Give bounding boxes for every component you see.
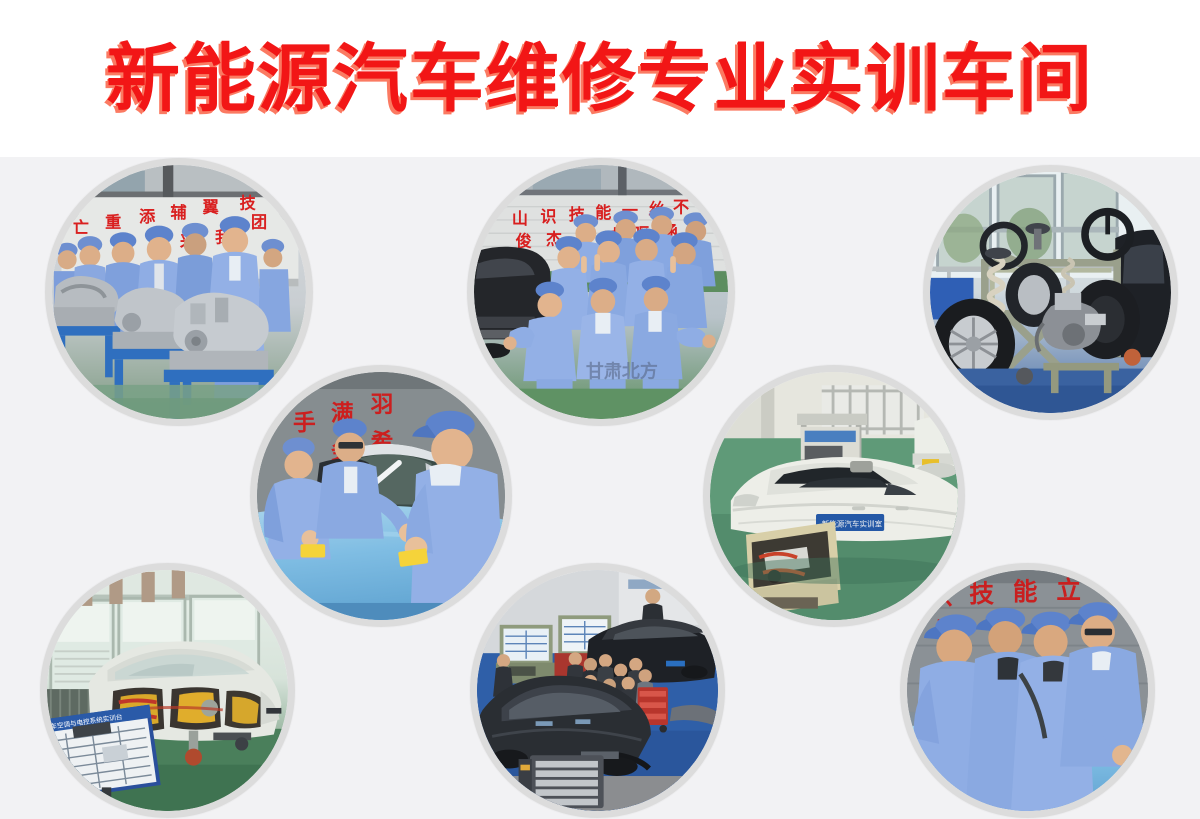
poster-header: 新能源汽车维修专业实训车间 xyxy=(0,0,1200,157)
photo-circle-chassis-suspension-rig[interactable]: 底盘悬架转向实训台架 xyxy=(923,165,1178,420)
photo-board: #ec2eab #ee5a50 #00c5ec #ee6a60 #8a8a8a xyxy=(0,157,1200,819)
photo-circle-electric-vehicle-cutaway[interactable]: 新能源汽车实训室 xyxy=(703,365,965,627)
svg-text:亡: 亡 xyxy=(73,218,89,237)
svg-text:羽: 羽 xyxy=(371,392,394,418)
svg-text:翼: 翼 xyxy=(203,197,219,216)
svg-text:能: 能 xyxy=(595,203,611,222)
svg-text:手: 手 xyxy=(293,411,316,437)
poster-page: 新能源汽车维修专业实训车间 #ec2eab #ee5a50 #00c5ec #e… xyxy=(0,0,1200,819)
photo-image: 新能源汽车实训室 xyxy=(710,372,958,620)
svg-text:技: 技 xyxy=(240,194,257,213)
photo-image: 以技能 立 以 xyxy=(907,570,1148,811)
svg-text:苟: 苟 xyxy=(697,195,714,214)
svg-text:技: 技 xyxy=(969,579,994,608)
svg-text:甘肃北方: 甘肃北方 xyxy=(586,360,658,382)
svg-text:辅: 辅 xyxy=(170,203,186,222)
photo-image: 山识技 能一丝 不苟 俊杰贤 才呕涵 血 xyxy=(474,165,728,419)
svg-text:不: 不 xyxy=(673,197,689,216)
photo-image: 羽满手 希务 xyxy=(257,372,505,620)
page-title: 新能源汽车维修专业实训车间 xyxy=(106,42,1094,116)
svg-text:重: 重 xyxy=(105,213,121,232)
photo-image xyxy=(477,570,718,811)
photo-circle-workshop-overview[interactable]: 实训车间整车检测与工具车 xyxy=(470,563,725,818)
photo-image xyxy=(930,172,1171,413)
photo-circle-students-polishing-hood[interactable]: 以技能 立 以 xyxy=(900,563,1155,818)
photo-image: 亡重添 辅翼技 太术贝 采我团 xyxy=(52,165,306,419)
svg-text:添: 添 xyxy=(139,207,156,226)
photo-circle-film-application-training[interactable]: 羽满手 希务 xyxy=(250,365,512,627)
photo-circle-group-photo-thumbs-up[interactable]: 山识技 能一丝 不苟 俊杰贤 才呕涵 血 xyxy=(467,158,735,426)
photo-image: 汽车空调与电控系统实训台 xyxy=(47,570,288,811)
photo-circle-engine-display-students[interactable]: 亡重添 辅翼技 太术贝 采我团 xyxy=(45,158,313,426)
svg-text:立: 立 xyxy=(1056,575,1081,604)
svg-text:以: 以 xyxy=(928,581,953,610)
photo-circle-body-structure-model[interactable]: 汽车空调与电控系统实训台 车身结 xyxy=(40,563,295,818)
svg-text:山: 山 xyxy=(512,209,528,228)
svg-text:能: 能 xyxy=(1013,577,1038,606)
svg-text:团: 团 xyxy=(251,213,267,232)
svg-text:识: 识 xyxy=(540,207,556,226)
